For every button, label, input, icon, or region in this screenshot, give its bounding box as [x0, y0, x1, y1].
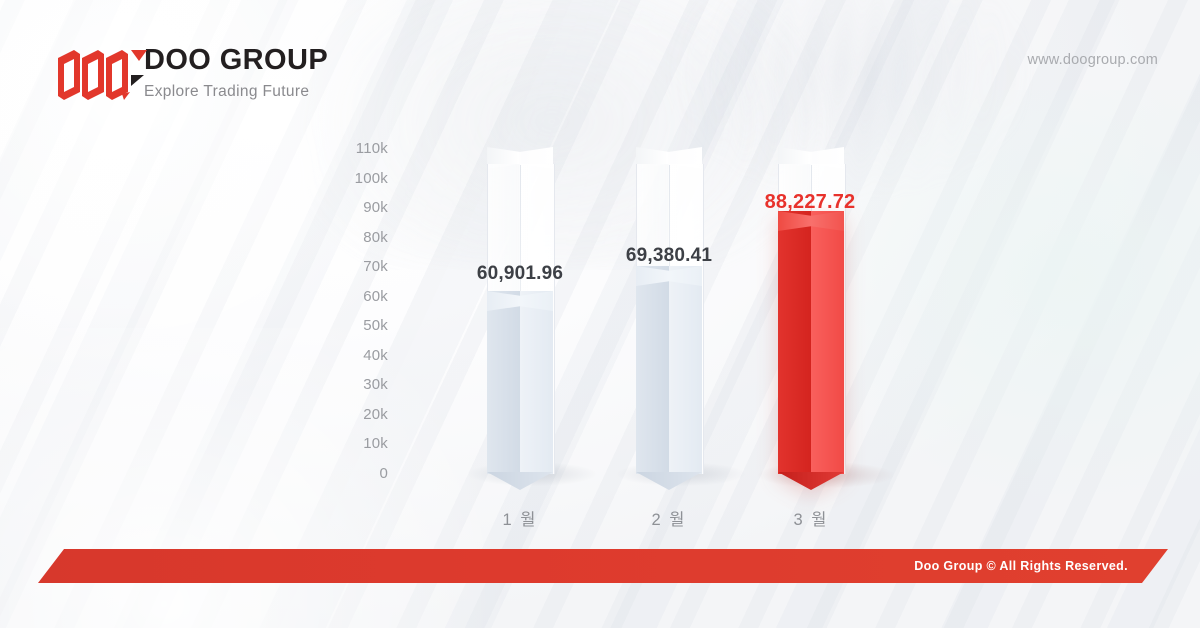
- footer-copyright: Doo Group © All Rights Reserved.: [914, 559, 1128, 573]
- bar-value-feb: 69,380.41: [559, 246, 779, 265]
- x-label-feb: 2 월: [609, 506, 729, 530]
- y-tick-70k: 70k: [330, 259, 388, 274]
- y-tick-0: 0: [330, 466, 388, 481]
- bar-face-left-jan: [487, 291, 520, 474]
- y-tick-60k: 60k: [330, 289, 388, 304]
- bar-face-right-mar: [811, 211, 844, 474]
- y-tick-10k: 10k: [330, 436, 388, 451]
- bar-fill-mar: [778, 211, 844, 474]
- bar-fill-jan: [487, 291, 553, 474]
- poster-canvas: DOO GROUP Explore Trading Future www.doo…: [0, 0, 1200, 628]
- y-tick-80k: 80k: [330, 230, 388, 245]
- bar-column-jan[interactable]: [487, 147, 553, 474]
- bar-value-mar: 88,227.72: [700, 192, 920, 212]
- bar-face-left-feb: [636, 266, 669, 474]
- bar-chart: 110k 100k 90k 80k 70k 60k 50k 40k 30k 20…: [0, 0, 1200, 628]
- y-tick-50k: 50k: [330, 318, 388, 333]
- x-label-jan: 1 월: [460, 506, 580, 530]
- bar-column-feb[interactable]: [636, 147, 702, 474]
- y-tick-30k: 30k: [330, 377, 388, 392]
- y-tick-110k: 110k: [330, 141, 388, 156]
- bar-fill-feb: [636, 266, 702, 474]
- y-tick-90k: 90k: [330, 200, 388, 215]
- x-label-mar: 3 월: [751, 506, 871, 530]
- y-tick-20k: 20k: [330, 407, 388, 422]
- bar-face-left-mar: [778, 211, 811, 474]
- y-tick-100k: 100k: [330, 171, 388, 186]
- bar-face-right-jan: [520, 291, 553, 474]
- bar-value-jan: 60,901.96: [410, 264, 630, 283]
- y-tick-40k: 40k: [330, 348, 388, 363]
- bar-face-right-feb: [669, 266, 702, 474]
